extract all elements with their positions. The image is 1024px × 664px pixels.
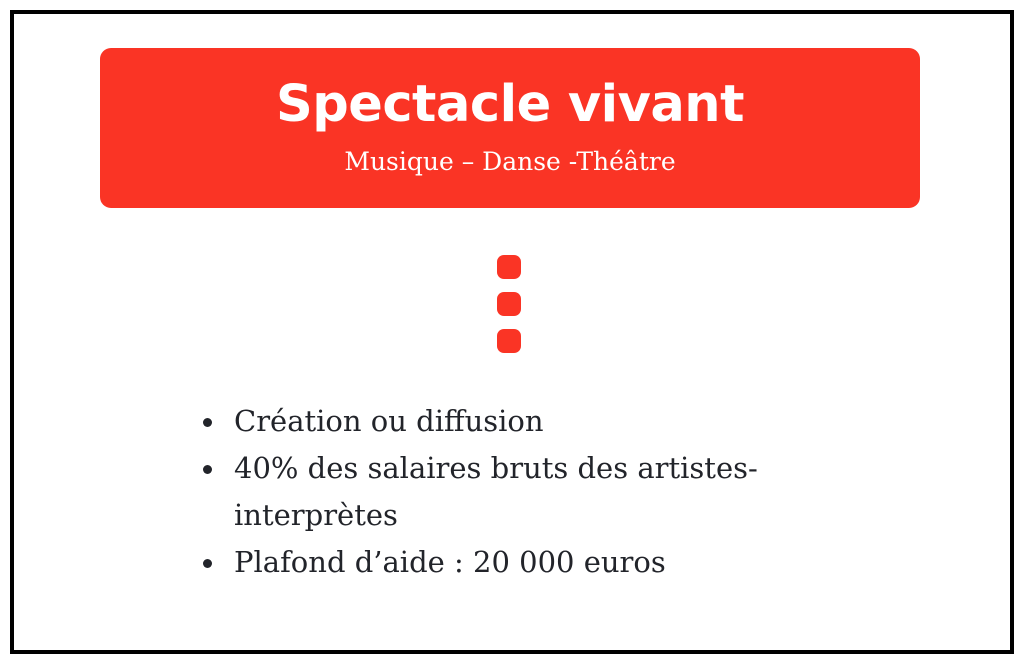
list-item: Plafond d’aide : 20 000 euros <box>200 539 820 586</box>
list-item: Création ou diffusion <box>200 398 820 445</box>
slide: Spectacle vivant Musique – Danse -Théâtr… <box>0 0 1024 664</box>
vertical-three-dots-icon <box>497 255 521 353</box>
list-item: 40% des salaires bruts des artistes-inte… <box>200 445 820 539</box>
title-banner: Spectacle vivant Musique – Danse -Théâtr… <box>100 48 920 208</box>
dot-icon <box>497 255 521 279</box>
page-title: Spectacle vivant <box>276 76 744 134</box>
bullet-list: Création ou diffusion 40% des salaires b… <box>200 398 820 586</box>
bullet-point-icon <box>203 559 212 568</box>
dot-icon <box>497 292 521 316</box>
page-subtitle: Musique – Danse -Théâtre <box>344 146 675 178</box>
list-item-label: Plafond d’aide : 20 000 euros <box>234 545 666 579</box>
list-item-label: 40% des salaires bruts des artistes-inte… <box>234 451 758 532</box>
dot-icon <box>497 329 521 353</box>
bullet-point-icon <box>203 465 212 474</box>
bullet-point-icon <box>203 418 212 427</box>
list-item-label: Création ou diffusion <box>234 404 544 438</box>
